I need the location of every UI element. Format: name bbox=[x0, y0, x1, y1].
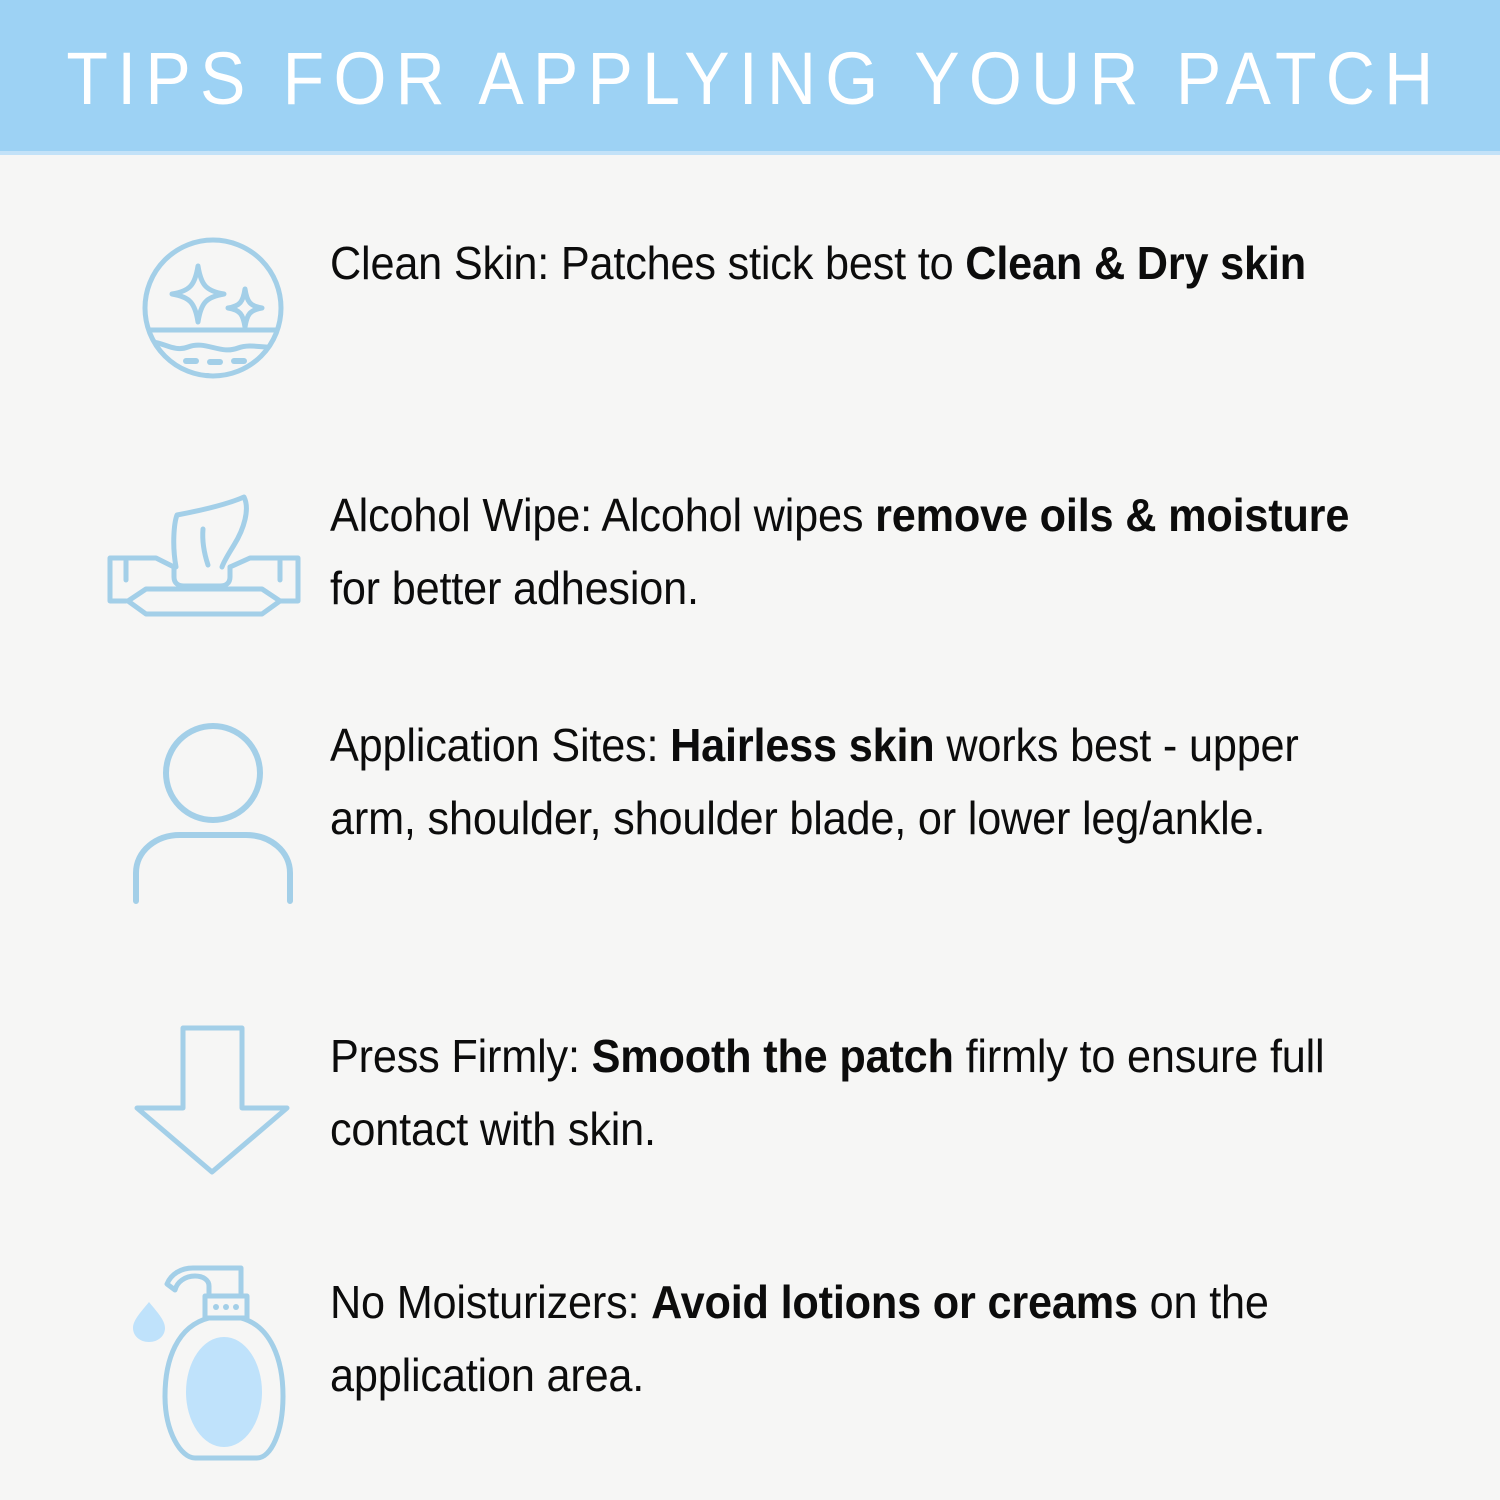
tip-bold: Hairless skin bbox=[670, 719, 934, 771]
page-title: Tips for Applying Your Patch bbox=[57, 42, 1442, 116]
tip-text: Alcohol Wipe: Alcohol wipes remove oils … bbox=[330, 467, 1373, 625]
tip-lead: Application Sites: bbox=[330, 719, 670, 771]
tip-lead: Clean Skin: Patches stick best to bbox=[330, 237, 965, 289]
tip-row: No Moisturizers: Avoid lotions or creams… bbox=[95, 1250, 1440, 1500]
down-arrow-icon bbox=[95, 1006, 330, 1251]
tip-bold: Smooth the patch bbox=[592, 1030, 954, 1082]
tip-bold: Avoid lotions or creams bbox=[651, 1276, 1138, 1328]
tip-row: Application Sites: Hairless skin works b… bbox=[95, 701, 1440, 1006]
tip-row: Alcohol Wipe: Alcohol wipes remove oils … bbox=[95, 467, 1440, 702]
tip-bold: remove oils & moisture bbox=[875, 489, 1349, 541]
tip-lead: Press Firmly: bbox=[330, 1030, 592, 1082]
tip-lead: No Moisturizers: bbox=[330, 1276, 651, 1328]
tip-row: Press Firmly: Smooth the patch firmly to… bbox=[95, 1006, 1440, 1251]
tip-text: Application Sites: Hairless skin works b… bbox=[330, 701, 1373, 855]
tip-text: Press Firmly: Smooth the patch firmly to… bbox=[330, 1006, 1373, 1166]
alcohol-wipes-icon bbox=[95, 467, 330, 702]
tip-row: Clean Skin: Patches stick best to Clean … bbox=[95, 217, 1440, 467]
tip-text: No Moisturizers: Avoid lotions or creams… bbox=[330, 1250, 1373, 1412]
tip-lead: Alcohol Wipe: Alcohol wipes bbox=[330, 489, 875, 541]
header-banner: Tips for Applying Your Patch bbox=[0, 0, 1500, 155]
lotion-bottle-icon bbox=[95, 1250, 330, 1500]
person-icon bbox=[95, 701, 330, 1006]
infographic-page: Tips for Applying Your Patch bbox=[0, 0, 1500, 1500]
tip-bold: Clean & Dry skin bbox=[965, 237, 1306, 289]
tip-text: Clean Skin: Patches stick best to Clean … bbox=[330, 217, 1373, 300]
clean-skin-icon bbox=[95, 217, 330, 467]
tip-tail: for better adhesion. bbox=[330, 562, 699, 614]
tips-list: Clean Skin: Patches stick best to Clean … bbox=[0, 155, 1500, 1500]
